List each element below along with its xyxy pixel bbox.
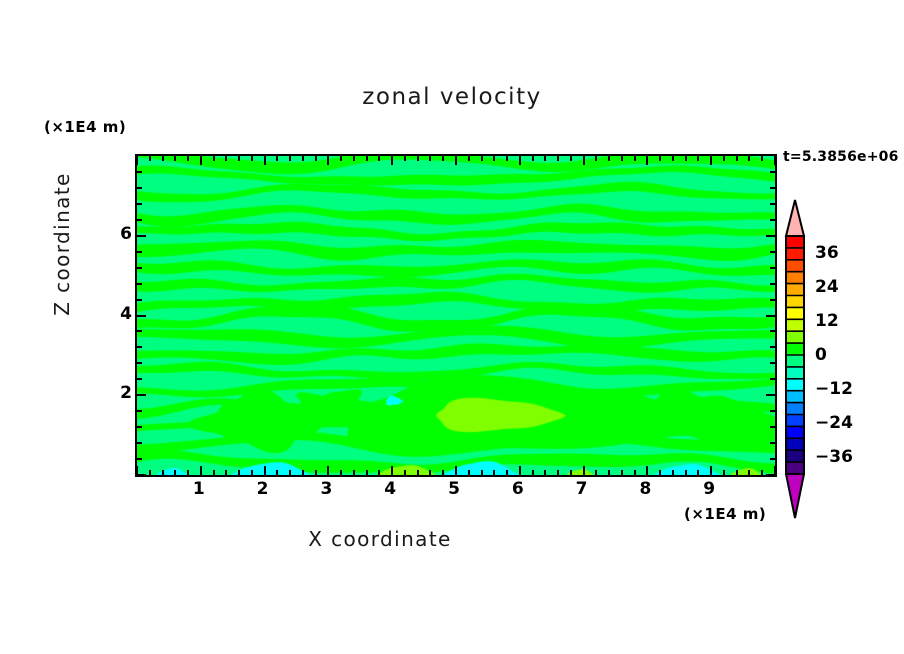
colorbar-band — [786, 307, 804, 320]
x-tick-label: 8 — [639, 479, 651, 499]
axis-tick — [685, 156, 687, 161]
axis-tick — [149, 156, 151, 161]
colorbar-band — [786, 260, 804, 273]
axis-tick — [455, 156, 457, 165]
axis-tick — [710, 466, 712, 475]
contour-plot-area — [135, 154, 777, 477]
axis-tick — [302, 156, 304, 161]
axis-tick — [583, 466, 585, 475]
axis-tick — [770, 346, 775, 348]
page-title: zonal velocity — [0, 84, 904, 110]
axis-tick — [770, 458, 775, 460]
axis-tick — [493, 470, 495, 475]
axis-tick — [137, 394, 146, 396]
y-axis-title: Z coordinate — [50, 134, 74, 354]
axis-tick — [137, 346, 142, 348]
axis-tick — [213, 470, 215, 475]
y-tick-label: 4 — [118, 304, 132, 324]
axis-tick — [276, 156, 278, 161]
axis-tick — [174, 470, 176, 475]
axis-tick — [353, 156, 355, 161]
axis-tick — [238, 470, 240, 475]
axis-tick — [468, 470, 470, 475]
axis-tick — [659, 156, 661, 161]
axis-tick — [137, 299, 142, 301]
colorbar-band — [786, 248, 804, 261]
axis-tick — [137, 203, 142, 205]
axis-tick — [137, 251, 142, 253]
x-tick-label: 9 — [703, 479, 715, 499]
axis-tick — [770, 299, 775, 301]
colorbar-band — [786, 391, 804, 404]
axis-tick — [544, 470, 546, 475]
axis-tick — [770, 362, 775, 364]
colorbar-tick-label: 24 — [815, 277, 839, 297]
axis-tick — [404, 156, 406, 161]
axis-tick — [340, 156, 342, 161]
x-tick-label: 2 — [257, 479, 269, 499]
colorbar-band — [786, 272, 804, 285]
axis-tick — [137, 315, 146, 317]
colorbar-band — [786, 319, 804, 332]
axis-tick — [327, 156, 329, 165]
axis-tick — [137, 442, 142, 444]
axis-tick — [137, 362, 142, 364]
axis-tick — [289, 470, 291, 475]
colorbar-band — [786, 331, 804, 344]
axis-tick — [608, 156, 610, 161]
axis-tick — [276, 470, 278, 475]
axis-tick — [736, 156, 738, 161]
colorbar-band — [786, 379, 804, 392]
time-annotation: t=5.3856e+06 — [783, 149, 899, 165]
colorbar-extend-min-arrow — [786, 474, 804, 518]
axis-tick — [770, 171, 775, 173]
axis-tick — [417, 156, 419, 161]
axis-tick — [770, 378, 775, 380]
axis-tick — [766, 235, 775, 237]
axis-tick — [137, 458, 142, 460]
axis-tick — [748, 156, 750, 161]
axis-tick — [595, 470, 597, 475]
axis-tick — [137, 474, 146, 476]
axis-tick — [659, 470, 661, 475]
axis-tick — [315, 470, 317, 475]
axis-tick — [595, 156, 597, 161]
y-tick-label: 6 — [118, 224, 132, 244]
axis-tick — [455, 466, 457, 475]
axis-tick — [770, 410, 775, 412]
axis-tick — [621, 156, 623, 161]
axis-tick — [766, 394, 775, 396]
colorbar-band — [786, 462, 804, 475]
colorbar-band — [786, 355, 804, 368]
colorbar-band — [786, 296, 804, 309]
axis-tick — [225, 470, 227, 475]
axis-tick — [137, 187, 142, 189]
axis-tick — [174, 156, 176, 161]
axis-tick — [200, 156, 202, 165]
axis-tick — [506, 470, 508, 475]
colorbar-tick-label: 0 — [815, 345, 827, 365]
colorbar-band — [786, 415, 804, 428]
axis-tick — [137, 283, 142, 285]
axis-tick — [366, 470, 368, 475]
axis-tick — [672, 156, 674, 161]
axis-tick — [327, 466, 329, 475]
x-tick-label: 4 — [384, 479, 396, 499]
axis-tick — [770, 442, 775, 444]
x-axis-title: X coordinate — [0, 527, 760, 551]
colorbar-tick-label: −24 — [815, 413, 853, 433]
axis-tick — [378, 470, 380, 475]
axis-tick — [766, 315, 775, 317]
colorbar-band — [786, 426, 804, 439]
axis-tick — [481, 156, 483, 161]
axis-tick — [289, 156, 291, 161]
axis-tick — [570, 470, 572, 475]
axis-tick — [251, 470, 253, 475]
axis-tick — [634, 470, 636, 475]
axis-tick — [493, 156, 495, 161]
axis-tick — [137, 410, 142, 412]
axis-tick — [766, 474, 775, 476]
axis-tick — [238, 156, 240, 161]
axis-tick — [646, 466, 648, 475]
axis-tick — [532, 470, 534, 475]
axis-tick — [748, 470, 750, 475]
x-tick-label: 3 — [320, 479, 332, 499]
axis-tick — [137, 171, 142, 173]
colorbar-tick-label: 12 — [815, 311, 839, 331]
colorbar-band — [786, 403, 804, 416]
axis-tick — [137, 267, 142, 269]
y-tick-label: 2 — [118, 383, 132, 403]
colorbar-tick-label: 36 — [815, 243, 839, 263]
axis-tick — [557, 156, 559, 161]
axis-tick — [213, 156, 215, 161]
axis-tick — [225, 156, 227, 161]
axis-tick — [442, 156, 444, 161]
axis-tick — [557, 470, 559, 475]
colorbar-band — [786, 450, 804, 463]
axis-tick — [429, 156, 431, 161]
colorbar-tick-label: −36 — [815, 447, 853, 467]
axis-tick — [187, 156, 189, 161]
axis-tick — [770, 251, 775, 253]
axis-tick — [162, 470, 164, 475]
axis-tick — [442, 470, 444, 475]
x-tick-label: 6 — [512, 479, 524, 499]
colorbar-extend-max-arrow — [786, 200, 804, 236]
axis-tick — [697, 156, 699, 161]
axis-tick — [770, 267, 775, 269]
axis-tick — [149, 470, 151, 475]
axis-tick — [302, 470, 304, 475]
axis-tick — [264, 466, 266, 475]
colorbar-band — [786, 367, 804, 380]
axis-tick — [137, 219, 142, 221]
axis-tick — [137, 330, 142, 332]
axis-tick — [315, 156, 317, 161]
axis-tick — [251, 156, 253, 161]
colorbar-tick-label: −12 — [815, 379, 853, 399]
axis-tick — [468, 156, 470, 161]
axis-tick — [570, 156, 572, 161]
colorbar — [782, 198, 808, 520]
axis-tick — [583, 156, 585, 165]
axis-tick — [519, 156, 521, 165]
axis-tick — [481, 470, 483, 475]
axis-tick — [417, 470, 419, 475]
colorbar-band — [786, 236, 804, 249]
axis-tick — [162, 156, 164, 161]
axis-tick — [710, 156, 712, 165]
axis-tick — [391, 156, 393, 165]
x-tick-label: 1 — [193, 479, 205, 499]
axis-tick — [646, 156, 648, 165]
axis-tick — [137, 378, 142, 380]
axis-tick — [366, 156, 368, 161]
axis-tick — [770, 187, 775, 189]
axis-tick — [634, 156, 636, 161]
colorbar-svg — [782, 198, 808, 520]
axis-tick — [200, 466, 202, 475]
axis-tick — [532, 156, 534, 161]
axis-tick — [770, 426, 775, 428]
colorbar-band — [786, 438, 804, 451]
axis-tick — [187, 470, 189, 475]
colorbar-band — [786, 343, 804, 356]
axis-tick — [761, 470, 763, 475]
contour-field-canvas — [137, 156, 775, 475]
axis-tick — [697, 470, 699, 475]
axis-tick — [340, 470, 342, 475]
axis-tick — [608, 470, 610, 475]
x-tick-label: 5 — [448, 479, 460, 499]
axis-tick — [770, 203, 775, 205]
axis-tick — [378, 156, 380, 161]
axis-tick — [723, 470, 725, 475]
x-axis-units-label: (×1E4 m) — [684, 505, 766, 523]
axis-tick — [770, 283, 775, 285]
axis-tick — [672, 470, 674, 475]
axis-tick — [544, 156, 546, 161]
axis-tick — [404, 470, 406, 475]
axis-tick — [761, 156, 763, 161]
axis-tick — [770, 219, 775, 221]
x-tick-label: 7 — [576, 479, 588, 499]
axis-tick — [723, 156, 725, 161]
axis-tick — [685, 470, 687, 475]
axis-tick — [136, 156, 138, 165]
axis-tick — [736, 470, 738, 475]
axis-tick — [137, 426, 142, 428]
axis-tick — [774, 156, 776, 165]
axis-tick — [353, 470, 355, 475]
axis-tick — [621, 470, 623, 475]
axis-tick — [506, 156, 508, 161]
axis-tick — [770, 330, 775, 332]
axis-tick — [519, 466, 521, 475]
colorbar-band — [786, 284, 804, 297]
axis-tick — [137, 235, 146, 237]
axis-tick — [264, 156, 266, 165]
axis-tick — [429, 470, 431, 475]
axis-tick — [391, 466, 393, 475]
